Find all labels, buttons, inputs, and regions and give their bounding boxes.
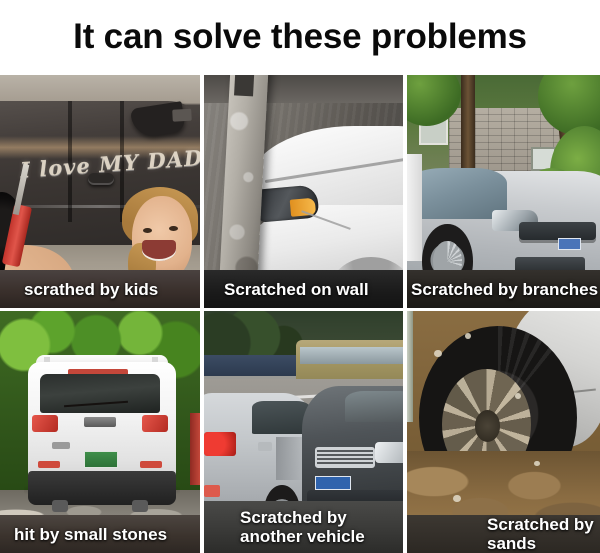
caption-scratched-by-sands: Scratched by sands (407, 515, 600, 553)
hatchback-tail-light (204, 432, 236, 456)
sedan-license-plate (315, 476, 351, 491)
wheel-hub (475, 410, 500, 441)
sedan-grille (315, 447, 375, 469)
license-plate (558, 238, 581, 250)
exhaust-left (52, 500, 68, 512)
mud-splash-2 (465, 333, 471, 339)
trim-badge (52, 442, 70, 449)
background-fence (204, 355, 296, 377)
grid-cell-scratched-by-kids[interactable]: I love MY DAD scrathed by kids (0, 75, 200, 308)
caption-text-line2: another vehicle (240, 527, 403, 546)
page-title: It can solve these problems (0, 0, 600, 74)
grid-cell-scratched-by-branches[interactable]: Scratched by branches (403, 75, 600, 308)
hatchback-door-handle (258, 442, 272, 452)
caption-text: hit by small stones (14, 525, 200, 544)
bus-windows (300, 347, 403, 364)
problem-image-grid: I love MY DAD scrathed by kids (0, 75, 600, 553)
background-edge (407, 311, 413, 422)
background-red-vehicle (190, 413, 200, 486)
caption-text-line1: Scratched by (240, 508, 403, 527)
exhaust-right (132, 500, 148, 512)
caption-scratched-by-another-vehicle: Scratched by another vehicle (204, 501, 403, 553)
adjacent-vehicle (407, 154, 422, 261)
tail-light-left (32, 415, 58, 432)
rear-bumper (28, 471, 176, 505)
hatchback-reflector (204, 485, 220, 497)
headlight (256, 184, 318, 222)
caption-scratched-by-branches: Scratched by branches (407, 270, 600, 308)
caption-scratched-by-kids: scrathed by kids (0, 270, 200, 308)
rear-reflector-right (140, 461, 162, 468)
brand-badge (84, 417, 116, 427)
grid-cell-hit-by-small-stones[interactable]: hit by small stones (0, 308, 200, 553)
sedan-windshield (345, 391, 403, 422)
caption-text: Scratched by sands (487, 515, 600, 553)
caption-text: Scratched on wall (224, 280, 403, 299)
impact-dent (276, 437, 304, 481)
caption-hit-by-small-stones: hit by small stones (0, 515, 200, 553)
mud-splash-1 (434, 350, 442, 357)
rear-window (40, 374, 160, 413)
sedan-headlight (375, 442, 403, 464)
tail-light-right (142, 415, 168, 432)
caption-text: scrathed by kids (24, 280, 200, 299)
rear-reflector-left (38, 461, 60, 468)
caption-text: Scratched by branches (411, 280, 600, 299)
poster-root: It can solve these problems I love MY DA… (0, 0, 600, 553)
license-plate (84, 451, 118, 468)
caption-scratched-on-wall: Scratched on wall (204, 270, 403, 308)
grid-cell-scratched-by-sands[interactable]: Scratched by sands (403, 308, 600, 553)
mud-splash-3 (515, 393, 521, 399)
grid-cell-scratched-on-wall[interactable]: Scratched on wall (200, 75, 403, 308)
grid-cell-scratched-by-another-vehicle[interactable]: Scratched by another vehicle (200, 308, 403, 553)
